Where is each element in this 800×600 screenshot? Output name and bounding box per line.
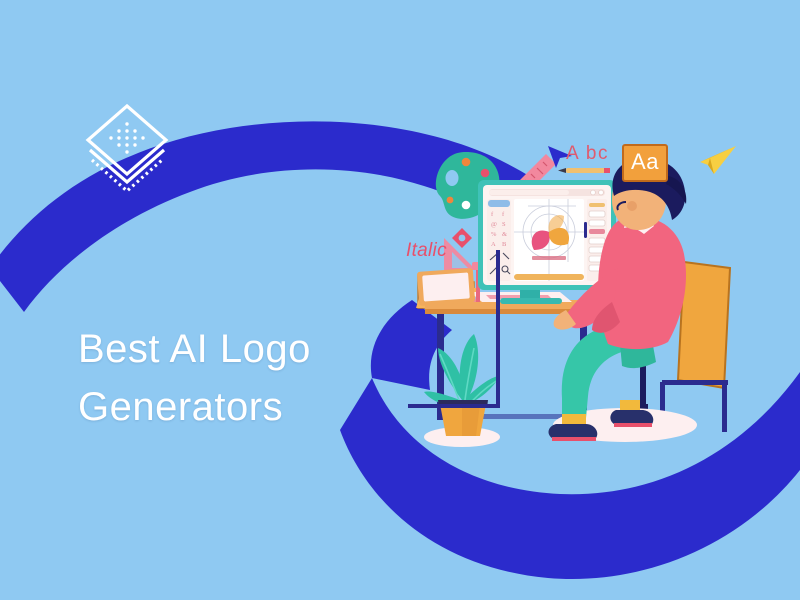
svg-text:B: B <box>502 241 507 248</box>
designer-illustration: ff @S %& AB <box>0 0 800 600</box>
page-title: Best AI Logo Generators <box>78 320 408 436</box>
svg-text:A: A <box>491 241 496 248</box>
label-aa: Aa <box>622 144 668 182</box>
potted-plant <box>424 334 500 436</box>
svg-text:&: & <box>502 231 507 238</box>
svg-text:@: @ <box>491 221 497 228</box>
pencil-icon <box>558 168 610 173</box>
paper-airplane-icon <box>700 146 736 174</box>
label-abc: A bc <box>566 143 609 165</box>
svg-text:S: S <box>502 221 506 228</box>
diamond-marker-icon <box>452 228 472 248</box>
banner-image: ff @S %& AB <box>0 0 800 600</box>
tablet <box>417 268 475 306</box>
monitor-canvas <box>514 199 584 281</box>
label-italic: Italic <box>406 240 447 262</box>
svg-text:%: % <box>491 231 497 238</box>
plant-leaves <box>424 334 500 406</box>
